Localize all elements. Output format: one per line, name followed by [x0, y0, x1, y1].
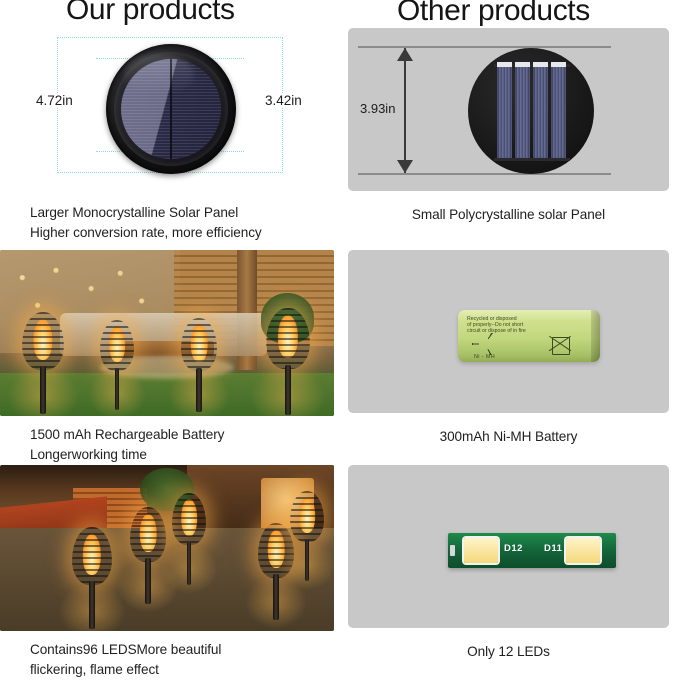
caption-line-2: flickering, flame effect — [30, 660, 334, 680]
panel-bottom-bar — [494, 158, 570, 161]
garden-path-torches-photo — [0, 465, 334, 631]
ours-leds-caption: Contains96 LEDSMore beautiful flickering… — [30, 640, 334, 680]
comparison-row-leds: Contains96 LEDSMore beautiful flickering… — [0, 465, 679, 683]
monocrystalline-panel-image — [106, 44, 236, 174]
flame-torch-light — [266, 308, 310, 413]
other-solar-panel-image-box: 3.93in — [348, 28, 669, 191]
other-solar-panel-cell: 3.93in Small Polycrystalline solar Panel — [348, 28, 669, 225]
polycrystalline-panel-image — [468, 48, 594, 174]
other-battery-caption: 300mAh Ni-MH Battery — [348, 427, 669, 447]
flame-torch-light — [172, 493, 206, 583]
other-solar-panel-caption: Small Polycrystalline solar Panel — [348, 205, 669, 225]
torch-flame-head — [181, 318, 217, 371]
torch-pole — [305, 539, 310, 581]
torch-ribs — [100, 320, 134, 371]
no-trash-bin-icon — [548, 332, 572, 356]
ours-solar-panel-caption: Larger Monocrystalline Solar Panel Highe… — [30, 203, 334, 243]
ours-leds-cell: Contains96 LEDSMore beautiful flickering… — [0, 465, 334, 680]
led-designator-d12: D12 — [504, 543, 523, 554]
led-chip — [566, 538, 600, 563]
torch-flame-head — [22, 312, 64, 370]
torch-pole — [285, 365, 291, 415]
other-battery-cell: Recycled or disposed of properly--Do not… — [348, 250, 669, 447]
column-heading-other: Other products — [397, 0, 590, 28]
caption-line-2: Higher conversion rate, more efficiency — [30, 223, 334, 243]
poly-strip — [497, 62, 512, 160]
dimension-arrow-icon — [404, 48, 406, 173]
poly-cell-face — [497, 62, 567, 160]
ours-battery-caption: 1500 mAh Rechargeable Battery Longerwork… — [30, 425, 334, 465]
torch-pole — [89, 581, 95, 629]
solder-pad — [450, 545, 455, 556]
poly-strip — [533, 62, 548, 160]
other-leds-caption: Only 12 LEDs — [348, 642, 669, 662]
garden-scene — [0, 250, 334, 416]
torch-ribs — [72, 527, 112, 585]
torch-pole — [273, 574, 278, 620]
led-designator-d11: D11 — [544, 543, 562, 554]
comparison-row-battery: 1500 mAh Rechargeable Battery Longerwork… — [0, 250, 679, 460]
garden-torches-photo — [0, 250, 334, 416]
poly-strip — [551, 62, 566, 160]
recycle-icon — [472, 333, 498, 355]
flame-torch-light — [72, 527, 112, 627]
ours-battery-cell: 1500 mAh Rechargeable Battery Longerwork… — [0, 250, 334, 465]
garden-path-scene — [0, 465, 334, 631]
comparison-row-solar-panel: 4.72in 3.42in Larger Monocrystalline Sol… — [0, 28, 679, 246]
dimension-rule-bottom — [358, 173, 611, 175]
flame-torch-light — [100, 320, 134, 408]
torch-ribs — [22, 312, 64, 370]
torch-ribs — [290, 491, 324, 542]
solar-panel-illustration: 4.72in 3.42in — [0, 28, 334, 194]
led-chip — [464, 538, 498, 563]
torch-pole — [115, 368, 120, 410]
torch-pole — [187, 542, 192, 585]
poly-strip — [515, 62, 530, 160]
dimension-label-width: 3.42in — [262, 93, 305, 108]
ours-solar-panel-cell: 4.72in 3.42in Larger Monocrystalline Sol… — [0, 28, 334, 243]
product-comparison-page: Our products Other products 4.72in 3.42i… — [0, 0, 679, 683]
flame-torch-light — [290, 491, 324, 579]
flame-torch-light — [181, 318, 217, 410]
torch-pole — [196, 368, 201, 412]
torch-flame-head — [266, 308, 310, 369]
torch-ribs — [181, 318, 217, 371]
column-heading-ours: Our products — [66, 0, 235, 27]
dimension-label-height: 4.72in — [33, 93, 76, 108]
torch-flame-head — [290, 491, 324, 542]
caption-line-1: 1500 mAh Rechargeable Battery — [30, 425, 334, 445]
torch-pole — [40, 366, 46, 414]
battery-chemistry-label: Ni - MH — [474, 354, 495, 360]
caption-line-1: Contains96 LEDSMore beautiful — [30, 640, 334, 660]
caption-line-1: Larger Monocrystalline Solar Panel — [30, 203, 334, 223]
caption-line-2: Longerworking time — [30, 445, 334, 465]
torch-pole — [145, 558, 150, 604]
other-battery-image-box: Recycled or disposed of properly--Do not… — [348, 250, 669, 413]
nimh-battery-image: Recycled or disposed of properly--Do not… — [458, 310, 600, 362]
panel-glare — [124, 54, 194, 94]
other-leds-image-box: D12 D11 — [348, 465, 669, 628]
torch-flame-head — [172, 493, 206, 545]
torch-flame-head — [130, 507, 166, 562]
torch-ribs — [130, 507, 166, 562]
flame-torch-light — [130, 507, 166, 602]
torch-flame-head — [100, 320, 134, 371]
flame-torch-light — [22, 312, 64, 412]
torch-ribs — [266, 308, 310, 369]
other-dimension-label: 3.93in — [360, 101, 395, 116]
torch-flame-head — [72, 527, 112, 585]
dimension-rule-top — [358, 46, 611, 48]
torch-ribs — [172, 493, 206, 545]
other-leds-cell: D12 D11 Only 12 LEDs — [348, 465, 669, 662]
led-circuit-board-image: D12 D11 — [448, 533, 616, 568]
